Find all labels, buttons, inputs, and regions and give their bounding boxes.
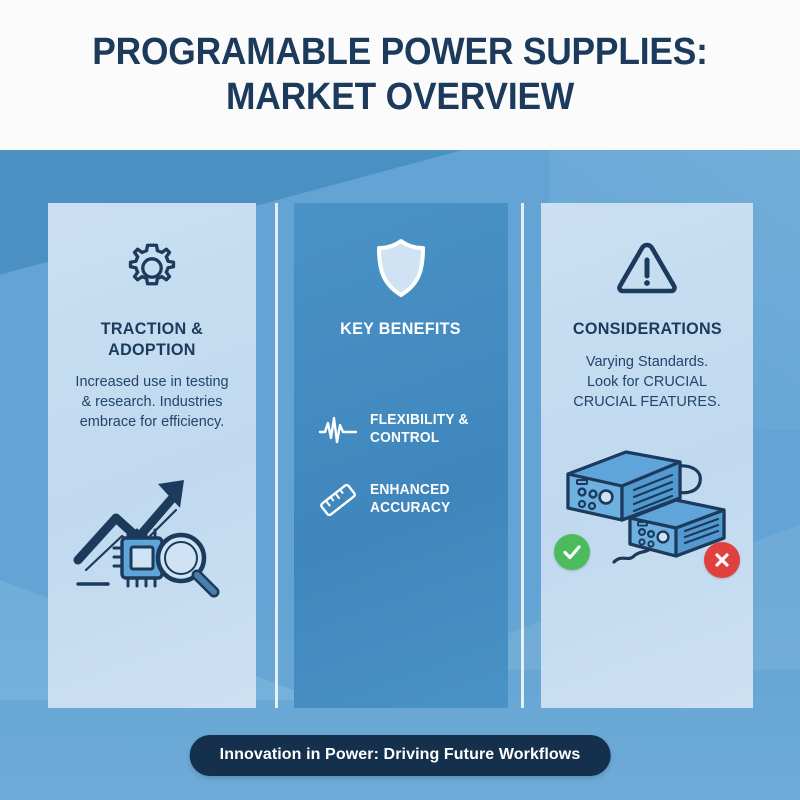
cross-badge (704, 542, 740, 578)
cross-icon (712, 550, 732, 570)
panel-body-considerations: Varying Standards. Look for CRUCIAL CRUC… (573, 352, 720, 412)
panel-title-key-benefits: KEY BENEFITS (341, 319, 462, 340)
warning-triangle-icon (614, 229, 680, 307)
panel-divider-right (521, 203, 524, 708)
check-badge (554, 534, 590, 570)
benefit-item: ENHANCED ACCURACY (318, 482, 490, 518)
waveform-icon (318, 412, 358, 448)
two-power-supply-units-illustration (552, 442, 742, 582)
content-stage: TRACTION & ADOPTION Increased use in tes… (0, 150, 800, 800)
panel-divider-left (275, 203, 278, 708)
panel-body-traction: Increased use in testing & research. Ind… (75, 372, 228, 432)
panel-key-benefits: KEY BENEFITS FLEXIBILITY & CONTROL (294, 203, 508, 708)
page-title: PROGRAMABLE POWER SUPPLIES: MARKET OVERV… (65, 30, 735, 120)
benefit-label: FLEXIBILITY & CONTROL (370, 412, 469, 447)
check-icon (561, 541, 583, 563)
shield-icon (373, 229, 429, 307)
header: PROGRAMABLE POWER SUPPLIES: MARKET OVERV… (0, 0, 800, 150)
gear-icon (121, 229, 183, 307)
benefits-list: FLEXIBILITY & CONTROL (312, 412, 490, 518)
panel-traction-adoption: TRACTION & ADOPTION Increased use in tes… (48, 203, 256, 708)
panel-title-considerations: CONSIDERATIONS (572, 319, 721, 340)
infographic-poster: PROGRAMABLE POWER SUPPLIES: MARKET OVERV… (0, 0, 800, 800)
panel-considerations: CONSIDERATIONS Varying Standards. Look f… (541, 203, 753, 708)
panel-title-traction: TRACTION & ADOPTION (101, 319, 203, 360)
footer-banner: Innovation in Power: Driving Future Work… (190, 735, 611, 776)
growth-chart-microchip-magnifier-illustration (64, 466, 240, 603)
ruler-icon (318, 482, 358, 518)
benefit-item: FLEXIBILITY & CONTROL (318, 412, 490, 448)
benefit-label: ENHANCED ACCURACY (370, 482, 450, 517)
